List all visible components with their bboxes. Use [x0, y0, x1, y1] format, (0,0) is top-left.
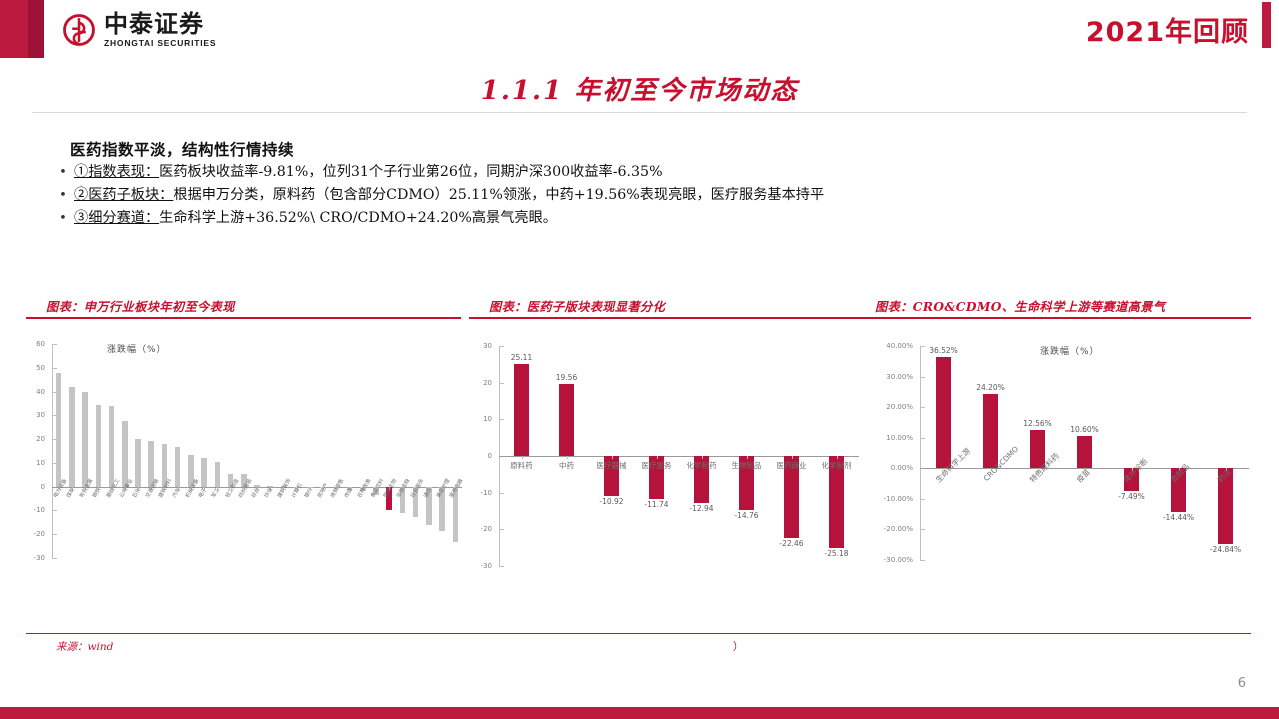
- bar: [983, 394, 999, 468]
- chart-caption-2: 图表：医药子版块表现显著分化: [489, 297, 665, 315]
- bar: [135, 439, 141, 487]
- y-axis-tick: [499, 493, 504, 494]
- chart-pharma-subsector: 3020100-10-20-3025.11原料药19.56中药-10.92医疗器…: [469, 336, 869, 606]
- bullet-rest: 医药板块收益率-9.81%，位列31个子行业第26位，同期沪深300收益率-6.…: [159, 164, 662, 180]
- x-axis-category-label: 军工: [210, 486, 221, 498]
- x-axis-category-label: 中药: [544, 460, 589, 471]
- bar: [201, 458, 207, 486]
- plot-title: 涨跌幅（%）: [107, 342, 167, 355]
- header-right-accent-bar: [1262, 2, 1271, 48]
- bar: [82, 392, 88, 487]
- y-axis-tick: [920, 499, 925, 500]
- x-axis-category-label: 汽车: [171, 486, 182, 498]
- y-axis-line: [52, 344, 53, 558]
- x-axis-category-label: 生物制品: [724, 460, 769, 471]
- y-axis-tick-label: 30: [26, 411, 45, 419]
- y-axis-tick-label: 10.00%: [872, 434, 913, 442]
- stray-paren: ）: [733, 639, 744, 654]
- bullet-marker: •: [52, 185, 74, 206]
- zero-line: [499, 456, 859, 457]
- company-logo: 中泰证券 ZHONGTAI SECURITIES: [62, 12, 216, 48]
- bullet-rest: 根据申万分类，原料药（包含部分CDMO）25.11%领涨，中药+19.56%表现…: [173, 187, 824, 203]
- list-item: • ①指数表现：医药板块收益率-9.81%，位列31个子行业第26位，同期沪深3…: [52, 162, 1232, 183]
- plot-title: 涨跌幅（%）: [1040, 344, 1100, 357]
- y-axis-tick-label: 40: [26, 388, 45, 396]
- bar-data-label: 36.52%: [926, 346, 962, 355]
- y-axis-tick-label: -10.00%: [872, 495, 913, 503]
- x-axis-category-label: 煤炭: [65, 486, 76, 498]
- bar-data-label: 24.20%: [973, 383, 1009, 392]
- y-axis-tick-label: -10: [469, 489, 492, 497]
- y-axis-line: [920, 346, 921, 560]
- bar-data-label: -22.46: [774, 539, 810, 548]
- y-axis-tick: [920, 377, 925, 378]
- zhongtai-circle-logo-icon: [62, 13, 96, 47]
- x-axis-category-label: 医疗服务: [634, 460, 679, 471]
- y-axis-tick: [52, 344, 57, 345]
- header-accent-block-light: [0, 0, 28, 58]
- bar: [122, 421, 128, 487]
- x-axis-tick: [747, 456, 748, 459]
- bar: [1077, 436, 1093, 468]
- y-axis-tick: [52, 558, 57, 559]
- y-axis-tick-label: -10: [26, 506, 45, 514]
- bullet-lead: ②医药子板块：: [74, 187, 173, 203]
- y-axis-tick: [499, 419, 504, 420]
- bar: [56, 373, 62, 487]
- bullet-text: ②医药子板块：根据申万分类，原料药（包含部分CDMO）25.11%领涨，中药+1…: [74, 185, 1232, 206]
- bar-data-label: 12.56%: [1020, 419, 1056, 428]
- y-axis-tick-label: 30: [469, 342, 492, 350]
- slide: 中泰证券 ZHONGTAI SECURITIES 2021年回顾 1.1.1 年…: [0, 0, 1279, 719]
- bullet-text: ③细分赛道：生命科学上游+36.52%\ CRO/CDMO+24.20%高景气亮…: [74, 208, 1232, 229]
- x-axis-category-label: 房地产: [316, 482, 330, 499]
- bar-data-label: -10.92: [594, 497, 630, 506]
- x-axis-category-label: 计算机: [290, 482, 304, 499]
- bar: [109, 406, 115, 487]
- footer-accent-bar: [0, 707, 1279, 719]
- y-axis-tick: [499, 566, 504, 567]
- x-axis-category-label: 传媒: [343, 486, 354, 498]
- x-axis-category-label: 化学制剂: [814, 460, 859, 471]
- bar-data-label: -11.74: [639, 500, 675, 509]
- x-axis-tick: [702, 456, 703, 459]
- bullet-list: • ①指数表现：医药板块收益率-9.81%，位列31个子行业第26位，同期沪深3…: [52, 162, 1232, 231]
- y-axis-tick: [920, 346, 925, 347]
- y-axis-tick-label: -30: [469, 562, 492, 570]
- title-divider: [32, 112, 1247, 113]
- y-axis-tick: [52, 368, 57, 369]
- x-axis-tick: [837, 456, 838, 459]
- bar-data-label: 19.56: [549, 373, 585, 382]
- bar-data-label: 10.60%: [1067, 425, 1103, 434]
- list-item: • ②医药子板块：根据申万分类，原料药（包含部分CDMO）25.11%领涨，中药…: [52, 185, 1232, 206]
- list-item: • ③细分赛道：生命科学上游+36.52%\ CRO/CDMO+24.20%高景…: [52, 208, 1232, 229]
- x-axis-tick: [522, 456, 523, 459]
- y-axis-tick-label: 20: [469, 379, 492, 387]
- page-title: 1.1.1 年初至今市场动态: [0, 70, 1279, 107]
- logo-name-en: ZHONGTAI SECURITIES: [104, 39, 216, 48]
- bar-data-label: -7.49%: [1114, 492, 1150, 501]
- y-axis-tick: [920, 529, 925, 530]
- y-axis-tick: [499, 346, 504, 347]
- bar-data-label: -14.44%: [1161, 513, 1197, 522]
- source-note: 来源：wind: [56, 639, 113, 654]
- y-axis-tick-label: 20: [26, 435, 45, 443]
- bar-data-label: 25.11: [504, 353, 540, 362]
- y-axis-tick-label: 30.00%: [872, 373, 913, 381]
- bar-data-label: -25.18: [819, 549, 855, 558]
- chart-caption-1: 图表：申万行业板块年初至今表现: [46, 297, 235, 315]
- bar: [559, 384, 574, 456]
- section-heading: 医药指数平淡，结构性行情持续: [70, 138, 294, 160]
- x-axis-category-label: 医药商业: [769, 460, 814, 471]
- x-axis-tick: [567, 456, 568, 459]
- y-axis-tick: [52, 534, 57, 535]
- bullet-text: ①指数表现：医药板块收益率-9.81%，位列31个子行业第26位，同期沪深300…: [74, 162, 1232, 183]
- y-axis-tick-label: 0.00%: [872, 464, 913, 472]
- bullet-lead: ③细分赛道：: [74, 210, 159, 226]
- logo-name-cn: 中泰证券: [104, 12, 216, 36]
- bullet-marker: •: [52, 208, 74, 229]
- x-axis-category-label: 银行: [303, 486, 314, 498]
- y-axis-tick-label: 50: [26, 364, 45, 372]
- x-axis-tick: [612, 456, 613, 459]
- bar: [96, 405, 102, 487]
- y-axis-tick-label: 40.00%: [872, 342, 913, 350]
- bar: [936, 357, 952, 469]
- y-axis-tick: [920, 438, 925, 439]
- x-axis-category-label: 石化: [131, 486, 142, 498]
- y-axis-tick: [499, 383, 504, 384]
- x-axis-category-label: 环保: [263, 486, 274, 498]
- bar: [514, 364, 529, 456]
- logo-text-group: 中泰证券 ZHONGTAI SECURITIES: [104, 12, 216, 48]
- x-axis-category-label: 电子: [197, 486, 208, 498]
- chart-caption-rule-2: [469, 317, 869, 319]
- bullet-lead: ①指数表现：: [74, 164, 159, 180]
- bar-data-label: -14.76: [729, 511, 765, 520]
- chart-caption-3: 图表：CRO&CDMO、生命科学上游等赛道高景气: [875, 297, 1165, 315]
- x-axis-category-label: 医疗器械: [589, 460, 634, 471]
- chart-caption-rule-1: [26, 317, 461, 319]
- bullet-marker: •: [52, 162, 74, 183]
- y-axis-tick-label: -30.00%: [872, 556, 913, 564]
- y-axis-tick-label: 10: [469, 415, 492, 423]
- x-axis-category-label: 化学制药: [679, 460, 724, 471]
- x-axis-category-label: 综合: [250, 486, 261, 498]
- x-axis-tick: [792, 456, 793, 459]
- bar-data-label: -12.94: [684, 504, 720, 513]
- x-axis-category-label: 疫苗: [1074, 467, 1092, 485]
- y-axis-tick-label: -20.00%: [872, 525, 913, 533]
- chart-caption-rule-3: [869, 317, 1251, 319]
- y-axis-tick-label: 20.00%: [872, 403, 913, 411]
- y-axis-tick-label: -30: [26, 554, 45, 562]
- y-axis-tick: [499, 529, 504, 530]
- y-axis-tick-label: 0: [26, 483, 45, 491]
- y-axis-tick: [52, 510, 57, 511]
- chart-cro-cdmo-tracks: 40.00%30.00%20.00%10.00%0.00%-10.00%-20.…: [872, 336, 1257, 606]
- x-axis-category-label: 钢铁: [91, 486, 102, 498]
- bullet-rest: 生命科学上游+36.52%\ CRO/CDMO+24.20%高景气亮眼。: [159, 210, 557, 226]
- y-axis-tick-label: 0: [469, 452, 492, 460]
- footer-divider: [26, 633, 1251, 634]
- y-axis-tick-label: -20: [26, 530, 45, 538]
- page-number: 6: [1238, 676, 1246, 691]
- y-axis-tick-label: 60: [26, 340, 45, 348]
- x-axis-category-label: 原料药: [499, 460, 544, 471]
- header-year-label: 2021年回顾: [1086, 10, 1249, 49]
- y-axis-tick: [920, 560, 925, 561]
- y-axis-tick-label: -20: [469, 525, 492, 533]
- bar: [215, 462, 221, 487]
- x-axis-tick: [657, 456, 658, 459]
- y-axis-tick: [920, 407, 925, 408]
- bar: [175, 447, 181, 487]
- bar-data-label: -24.84%: [1208, 545, 1244, 554]
- bar: [69, 387, 75, 486]
- chart-shenwan-sector-ytd: 6050403020100-10-20-30电力设备煤炭有色金属钢铁基础化工公用…: [26, 336, 466, 606]
- y-axis-tick-label: 10: [26, 459, 45, 467]
- header-accent-block-dark: [28, 0, 44, 58]
